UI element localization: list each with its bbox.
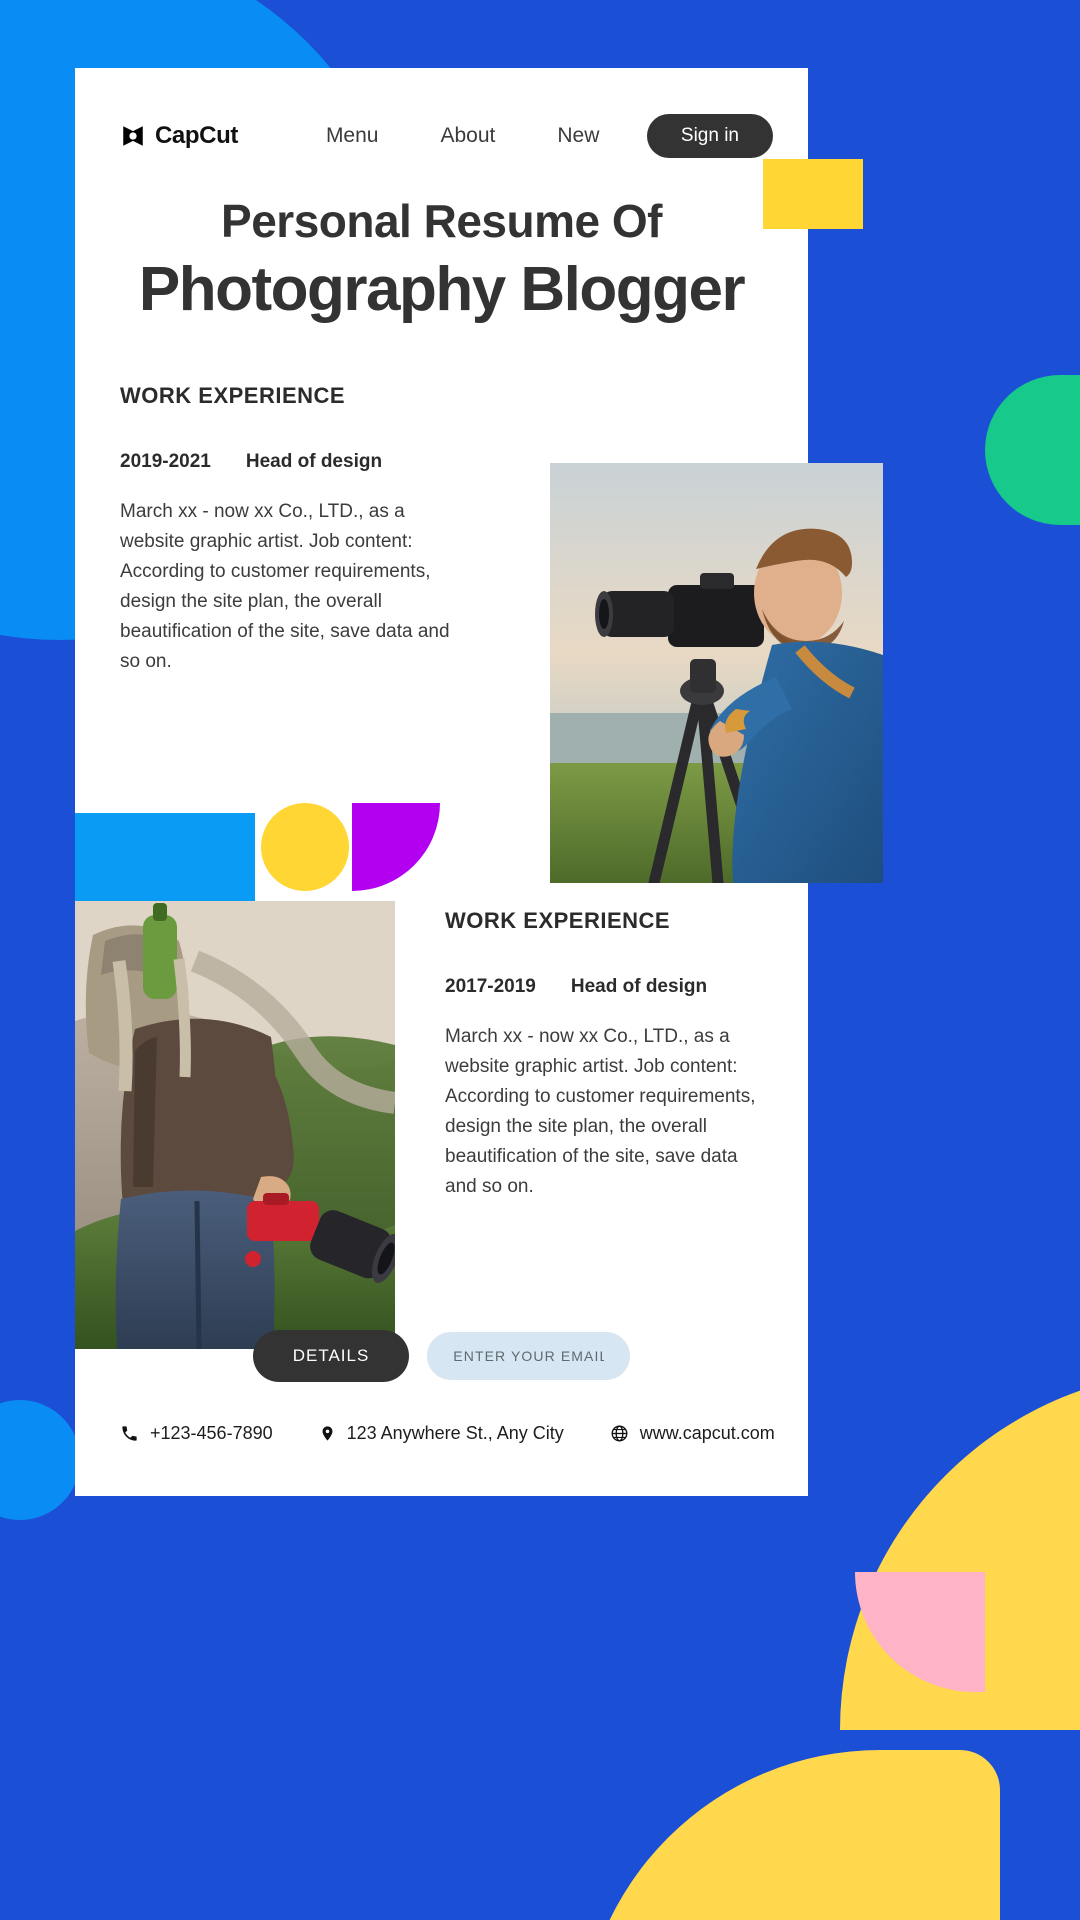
photo-photographer-tripod [550, 463, 883, 883]
decor-purple-quarter [352, 803, 440, 891]
contact-website[interactable]: www.capcut.com [610, 1423, 775, 1444]
page-title-line2: Photography Blogger [75, 254, 808, 325]
nav-link-about[interactable]: About [440, 124, 495, 148]
contact-website-text: www.capcut.com [640, 1423, 775, 1444]
photo-hiker-camera [75, 901, 395, 1349]
sign-in-button[interactable]: Sign in [647, 114, 773, 158]
work-period-1: 2019-2021 [120, 451, 211, 473]
email-input[interactable] [427, 1332, 630, 1380]
work-title-2: Head of design [571, 976, 707, 998]
nav-link-new[interactable]: New [557, 124, 599, 148]
brand-logo[interactable]: CapCut [120, 122, 238, 150]
capcut-logo-icon [120, 123, 146, 149]
work-experience-2-meta: 2017-2019 Head of design [445, 976, 770, 998]
work-experience-1-text: WORK EXPERIENCE 2019-2021 Head of design… [120, 383, 455, 677]
decor-blue-rectangle [75, 813, 255, 901]
decor-yellow-circle [261, 803, 349, 891]
contact-address[interactable]: 123 Anywhere St., Any City [319, 1423, 564, 1444]
brand-name: CapCut [155, 122, 238, 150]
hero-title-block: Personal Resume Of Photography Blogger [75, 194, 808, 325]
footer-contacts: +123-456-7890 123 Anywhere St., Any City… [120, 1423, 775, 1444]
nav-links: Menu About New [326, 124, 599, 148]
section-heading-1: WORK EXPERIENCE [120, 383, 455, 409]
work-experience-section-2: WORK EXPERIENCE 2017-2019 Head of design… [445, 908, 770, 1202]
decor-teal-shape [985, 375, 1080, 525]
contact-address-text: 123 Anywhere St., Any City [347, 1423, 564, 1444]
resume-card: CapCut Menu About New Sign in Personal R… [75, 68, 808, 1496]
photo-1-artwork [550, 463, 883, 883]
work-period-2: 2017-2019 [445, 976, 536, 998]
decor-blue-circle-small [0, 1400, 80, 1520]
page-title-line1: Personal Resume Of [75, 194, 808, 248]
decor-yellow-shape-bottom [580, 1750, 1000, 1920]
location-pin-icon [319, 1424, 336, 1443]
work-description-1: March xx - now xx Co., LTD., as a websit… [120, 497, 455, 677]
phone-icon [120, 1424, 139, 1443]
work-experience-1-meta: 2019-2021 Head of design [120, 451, 455, 473]
globe-icon [610, 1424, 629, 1443]
contact-phone[interactable]: +123-456-7890 [120, 1423, 273, 1444]
cta-row: DETAILS [75, 1330, 808, 1382]
nav-link-menu[interactable]: Menu [326, 124, 379, 148]
details-button[interactable]: DETAILS [253, 1330, 410, 1382]
work-description-2: March xx - now xx Co., LTD., as a websit… [445, 1022, 770, 1202]
contact-phone-text: +123-456-7890 [150, 1423, 273, 1444]
section-heading-2: WORK EXPERIENCE [445, 908, 770, 934]
photo-2-artwork [75, 901, 395, 1349]
top-navigation-bar: CapCut Menu About New Sign in [75, 68, 808, 158]
work-title-1: Head of design [246, 451, 382, 473]
